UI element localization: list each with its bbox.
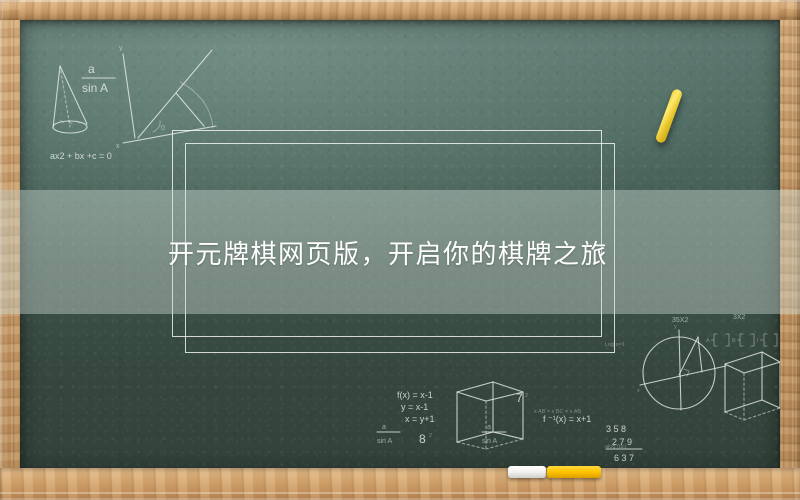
svg-text:y: y [674,324,677,330]
yellow-chalk-icon [547,466,601,478]
chalk-mult-35x2: 35X2 [672,317,688,324]
wood-grain-top [0,0,800,20]
chalk-cube-center-icon [457,382,523,449]
chalk-fraction-asina-topleft: a sin A [82,62,115,95]
svg-text:f(x) = x-1: f(x) = x-1 [397,390,433,400]
svg-text:2: 2 [525,393,528,399]
svg-text:8: 8 [419,432,426,446]
chalk-long-division: 3 5 8 2 7 9 6 3 7 [606,424,642,463]
page-title: 开元牌棋网页版，开启你的棋牌之旅 [168,234,608,271]
chalk-log-bc: alog (bc) [605,444,627,450]
svg-text:a: a [88,62,95,76]
chalk-fraction-asina-bottom-left: a sin A [377,424,400,445]
white-chalk-icon [508,466,546,478]
chalk-seven-squared: 7 2 [516,391,528,405]
svg-text:y: y [119,45,123,52]
svg-text:2: 2 [429,433,432,439]
chalk-eight-squared: 8 2 [419,432,432,446]
chalk-cube-right-icon [725,352,780,420]
svg-text:6 3 7: 6 3 7 [614,453,634,463]
svg-text:I =: I = [757,338,763,344]
svg-text:B =: B = [732,338,740,344]
svg-text:x = y+1: x = y+1 [405,414,435,424]
chalk-cone-icon [53,66,87,133]
chalk-matrix-notation: A = B = I = [706,334,777,346]
chalk-ab-bc-formula: x AB = x BC = x AB [534,409,581,415]
svg-text:a: a [487,424,491,431]
svg-text:x: x [637,388,640,394]
chalkboard-poster: a sin A ax2 + bx +c = 0 y x 0 f(x) = x- [0,0,800,500]
wood-frame-top [0,0,800,20]
svg-text:A =: A = [706,338,714,344]
svg-text:sin A: sin A [482,438,498,445]
svg-text:0: 0 [161,125,165,132]
svg-text:y = x-1: y = x-1 [401,402,428,412]
chalk-inverse-function: f ⁻¹(x) = x+1 [543,414,591,424]
chalk-function-set: f(x) = x-1 y = x-1 x = y+1 [397,390,435,424]
chalk-mult-3x2: 3X2 [733,314,746,321]
svg-text:2 7 9: 2 7 9 [612,437,632,447]
chalk-unit-circle-diagram: y x [637,324,726,410]
svg-text:sin A: sin A [82,81,108,95]
wood-ledge [0,468,800,500]
svg-text:7: 7 [516,391,523,405]
svg-text:x: x [116,143,120,150]
chalk-quadratic-equation: ax2 + bx +c = 0 [50,151,112,161]
title-banner: 开元牌棋网页版，开启你的棋牌之旅 [0,190,800,314]
wood-ledge-lip [0,492,800,494]
svg-text:3 5 8: 3 5 8 [606,424,626,434]
svg-text:sin A: sin A [377,438,393,445]
svg-text:a: a [382,424,386,431]
chalk-fraction-asina-bottom-center: a sin A [482,424,506,445]
